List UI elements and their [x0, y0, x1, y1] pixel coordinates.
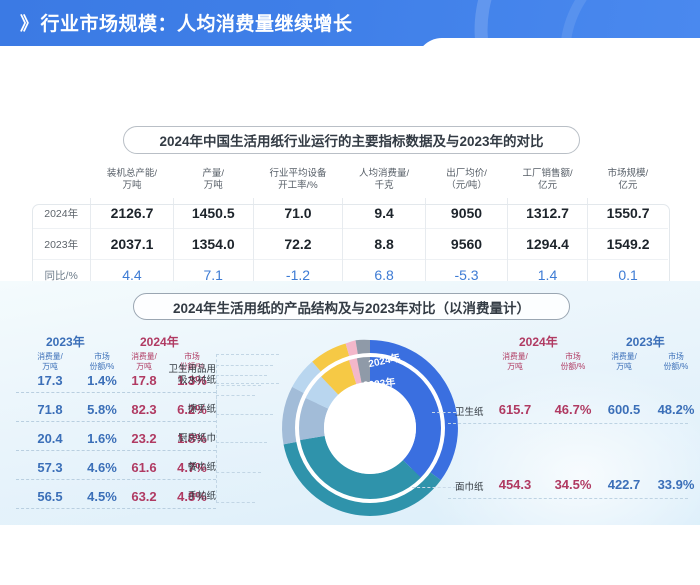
col-header-output: 产量/ 万吨	[173, 166, 253, 198]
left-category-2: 厨房纸巾	[150, 433, 216, 444]
left-row-divider-4	[16, 508, 216, 509]
left-subhdr-2023-volume: 消费量/ 万吨	[24, 352, 76, 372]
right-subhdr-2024-volume: 消费量/ 万吨	[487, 352, 543, 372]
col-header-capacity: 装机总产能/ 万吨	[91, 166, 173, 198]
right-cell-v2023-1: 422.7	[596, 477, 652, 492]
right-leader-1	[412, 487, 456, 488]
donut-chart: 2024年 2023年	[277, 335, 463, 521]
cell-2024-capacity: 2126.7	[91, 198, 173, 229]
right-cell-v2023-0: 600.5	[596, 402, 652, 417]
right-row-divider-1	[448, 498, 688, 499]
cell-2023-capacity: 2037.1	[91, 229, 173, 260]
leader-box-4	[216, 395, 255, 503]
section2-title-pill: 2024年生活用纸的产品结构及与2023年对比（以消费量计）	[133, 293, 570, 320]
col-header-corner	[32, 166, 91, 198]
row-label-2024: 2024年	[32, 198, 91, 229]
right-subhdr-2023-volume: 消费量/ 万吨	[596, 352, 652, 372]
col-header-market-size: 市场规模/ 亿元	[588, 166, 668, 198]
right-category-0: 卫生纸	[455, 404, 484, 418]
cell-2024-marketsize: 1550.7	[588, 198, 668, 229]
donut-center-hole	[324, 382, 416, 474]
left-row-divider-0	[16, 392, 216, 393]
right-leader-0	[432, 412, 456, 413]
right-cell-s2024-1: 34.5%	[545, 477, 601, 492]
row-label-2023: 2023年	[32, 229, 91, 260]
table-header-row: 装机总产能/ 万吨 产量/ 万吨 行业平均设备 开工率/% 人均消费量/ 千克	[32, 166, 668, 198]
indicators-table-head: 装机总产能/ 万吨 产量/ 万吨 行业平均设备 开工率/% 人均消费量/ 千克	[32, 166, 668, 198]
right-cell-s2024-0: 46.7%	[545, 402, 601, 417]
left-cell-v2023-4: 56.5	[24, 489, 76, 504]
left-header-2024: 2024年	[140, 333, 179, 350]
section1-title-pill: 2024年中国生活用纸行业运行的主要指标数据及与2023年的对比	[123, 126, 580, 154]
cell-2024-utilization: 71.0	[253, 198, 342, 229]
left-category-1: 擦手纸	[150, 404, 216, 415]
left-row-divider-2	[16, 450, 216, 451]
left-cell-v2023-3: 57.3	[24, 460, 76, 475]
cell-2023-output: 1354.0	[173, 229, 253, 260]
cell-2023-marketsize: 1549.2	[588, 229, 668, 260]
col-header-utilization: 行业平均设备 开工率/%	[253, 166, 342, 198]
cell-2023-sales: 1294.4	[507, 229, 587, 260]
left-cell-v2023-2: 20.4	[24, 431, 76, 446]
left-cell-v2023-0: 17.3	[24, 373, 76, 388]
right-cell-s2023-1: 33.9%	[648, 477, 700, 492]
right-cell-v2024-0: 615.7	[487, 402, 543, 417]
col-header-exfactory-price: 出厂均价/ （元/吨）	[426, 166, 508, 198]
page-title: 》行业市场规模：人均消费量继续增长	[20, 9, 353, 36]
left-row-divider-3	[16, 479, 216, 480]
left-header-2023: 2023年	[46, 333, 85, 350]
indicators-table-body: 2024年 2126.7 1450.5 71.0 9.4 9050 1312.7…	[32, 198, 668, 290]
right-subhdr-2024-share: 市场 份额/%	[545, 352, 601, 372]
page-root: 》行业市场规模：人均消费量继续增长 2024年中国生活用纸行业运行的主要指标数据…	[0, 0, 700, 525]
page-title-text: 行业市场规模：人均消费量继续增长	[41, 14, 353, 35]
left-cell-v2023-1: 71.8	[24, 402, 76, 417]
left-row-divider-1	[16, 421, 216, 422]
header-curve-notch	[416, 38, 700, 48]
col-header-percapita: 人均消费量/ 千克	[343, 166, 426, 198]
double-chevron-icon: 》	[20, 14, 39, 34]
right-header-2024: 2024年	[519, 333, 558, 350]
page-header: 》行业市场规模：人均消费量继续增长	[0, 0, 700, 48]
right-category-1: 面巾纸	[455, 479, 484, 493]
cell-2024-price: 9050	[426, 198, 508, 229]
right-row-divider-0	[448, 423, 688, 424]
indicators-table: 装机总产能/ 万吨 产量/ 万吨 行业平均设备 开工率/% 人均消费量/ 千克	[32, 166, 668, 290]
right-cell-v2024-1: 454.3	[487, 477, 543, 492]
left-category-0: 卫生用品用 吸水衬纸	[140, 364, 216, 386]
left-category-4: 手帕纸	[150, 491, 216, 502]
col-header-factory-sales: 工厂销售额/ 亿元	[507, 166, 587, 198]
cell-2023-price: 9560	[426, 229, 508, 260]
cell-2024-output: 1450.5	[173, 198, 253, 229]
cell-2023-utilization: 72.2	[253, 229, 342, 260]
table-row: 2024年 2126.7 1450.5 71.0 9.4 9050 1312.7…	[32, 198, 668, 229]
section-market-indicators: 2024年中国生活用纸行业运行的主要指标数据及与2023年的对比 装机总产能/ …	[0, 48, 700, 281]
right-cell-s2023-0: 48.2%	[648, 402, 700, 417]
right-subhdr-2023-share: 市场 份额/%	[648, 352, 700, 372]
cell-2024-sales: 1312.7	[507, 198, 587, 229]
left-category-3: 餐巾纸	[150, 462, 216, 473]
right-header-2023: 2023年	[626, 333, 665, 350]
cell-2024-percapita: 9.4	[343, 198, 426, 229]
table-row: 2023年 2037.1 1354.0 72.2 8.8 9560 1294.4…	[32, 229, 668, 260]
cell-2023-percapita: 8.8	[343, 229, 426, 260]
